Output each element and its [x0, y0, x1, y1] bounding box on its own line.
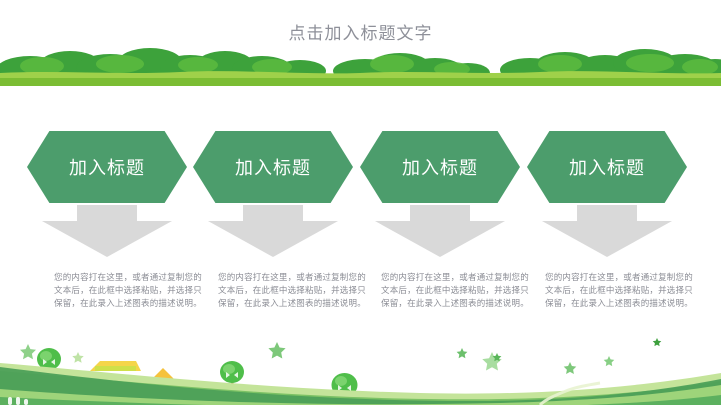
bottom-landscape-decoration — [0, 315, 721, 405]
down-arrow-3 — [360, 205, 520, 257]
column-body-4: 您的内容打在这里，或者通过复制您的文本后，在此框中选择粘贴，并选择只保留，在此录… — [545, 271, 697, 310]
hexagon-heading-2[interactable]: 加入标题 — [193, 131, 353, 203]
hexagon-label-2: 加入标题 — [235, 154, 311, 180]
column-body-2: 您的内容打在这里，或者通过复制您的文本后，在此框中选择粘贴，并选择只保留，在此录… — [218, 271, 370, 310]
hexagon-heading-4[interactable]: 加入标题 — [527, 131, 687, 203]
arrow-head-icon — [542, 221, 672, 257]
hexagon-label-3: 加入标题 — [402, 154, 478, 180]
column-3: 加入标题 — [360, 131, 520, 257]
down-arrow-4 — [527, 205, 687, 257]
arrow-head-icon — [208, 221, 338, 257]
hexagon-label-4: 加入标题 — [569, 154, 645, 180]
hexagon-heading-3[interactable]: 加入标题 — [360, 131, 520, 203]
arrow-stem-icon — [410, 205, 470, 221]
down-arrow-2 — [193, 205, 353, 257]
hexagon-label-1: 加入标题 — [69, 154, 145, 180]
column-body-3: 您的内容打在这里，或者通过复制您的文本后，在此框中选择粘贴，并选择只保留，在此录… — [381, 271, 533, 310]
column-1: 加入标题 — [27, 131, 187, 257]
arrow-head-icon — [42, 221, 172, 257]
column-body-1: 您的内容打在这里，或者通过复制您的文本后，在此框中选择粘贴，并选择只保留，在此录… — [54, 271, 206, 310]
arrow-stem-icon — [77, 205, 137, 221]
column-2: 加入标题 — [193, 131, 353, 257]
down-arrow-1 — [27, 205, 187, 257]
hexagon-heading-1[interactable]: 加入标题 — [27, 131, 187, 203]
arrow-stem-icon — [243, 205, 303, 221]
column-4: 加入标题 — [527, 131, 687, 257]
arrow-stem-icon — [577, 205, 637, 221]
slide-canvas: 点击加入标题文字 — [0, 0, 721, 405]
arrow-head-icon — [375, 221, 505, 257]
